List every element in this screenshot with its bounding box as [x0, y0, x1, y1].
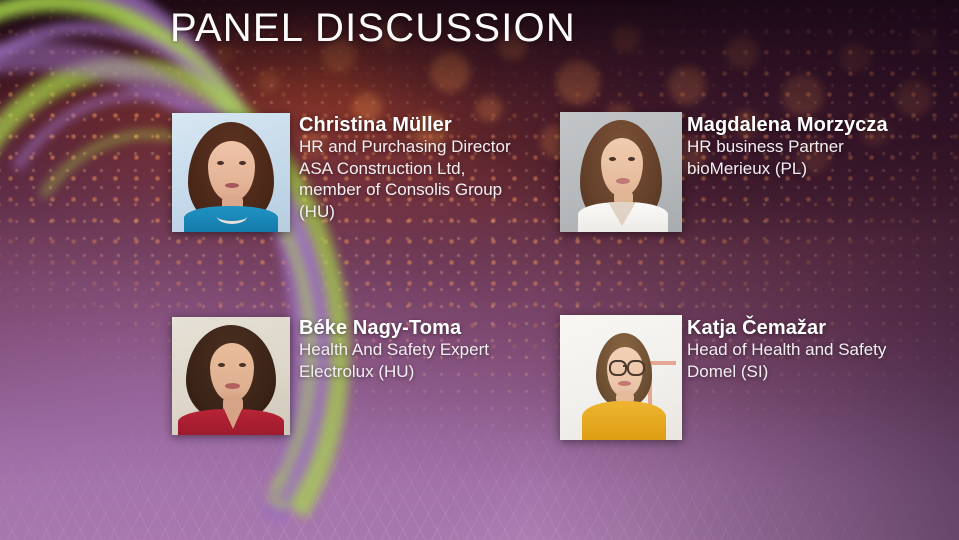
panelist-name: Christina Müller [299, 114, 511, 136]
portrait-photo-4 [560, 315, 682, 440]
panelist-line: Health And Safety Expert [299, 339, 489, 360]
glasses-icon [627, 360, 645, 376]
page-title: PANEL DISCUSSION [170, 6, 576, 51]
panelist-line: HR business Partner [687, 136, 888, 157]
panelist-line: (HU) [299, 201, 511, 222]
panelist-line: Electrolux (HU) [299, 361, 489, 382]
panelist-line: ASA Construction Ltd, [299, 158, 511, 179]
panelist-info-3: Béke Nagy-Toma Health And Safety Expert … [299, 317, 489, 382]
panelist-name: Katja Čemažar [687, 317, 886, 339]
panelist-line: HR and Purchasing Director [299, 136, 511, 157]
presentation-slide: PANEL DISCUSSION Christina Müller HR and… [0, 0, 959, 540]
portrait-photo-2 [560, 112, 682, 232]
panelist-line: Head of Health and Safety [687, 339, 886, 360]
background-ribbon-swirls [0, 0, 360, 540]
glasses-icon [609, 360, 627, 376]
panelist-info-2: Magdalena Morzycza HR business Partner b… [687, 114, 888, 179]
portrait-photo-1 [172, 113, 290, 232]
panelist-line: Domel (SI) [687, 361, 886, 382]
panelist-info-1: Christina Müller HR and Purchasing Direc… [299, 114, 511, 222]
panelist-info-4: Katja Čemažar Head of Health and Safety … [687, 317, 886, 382]
panelist-line: bioMerieux (PL) [687, 158, 888, 179]
portrait-photo-3 [172, 317, 290, 435]
panelist-line: member of Consolis Group [299, 179, 511, 200]
panelist-name: Magdalena Morzycza [687, 114, 888, 136]
panelist-name: Béke Nagy-Toma [299, 317, 489, 339]
